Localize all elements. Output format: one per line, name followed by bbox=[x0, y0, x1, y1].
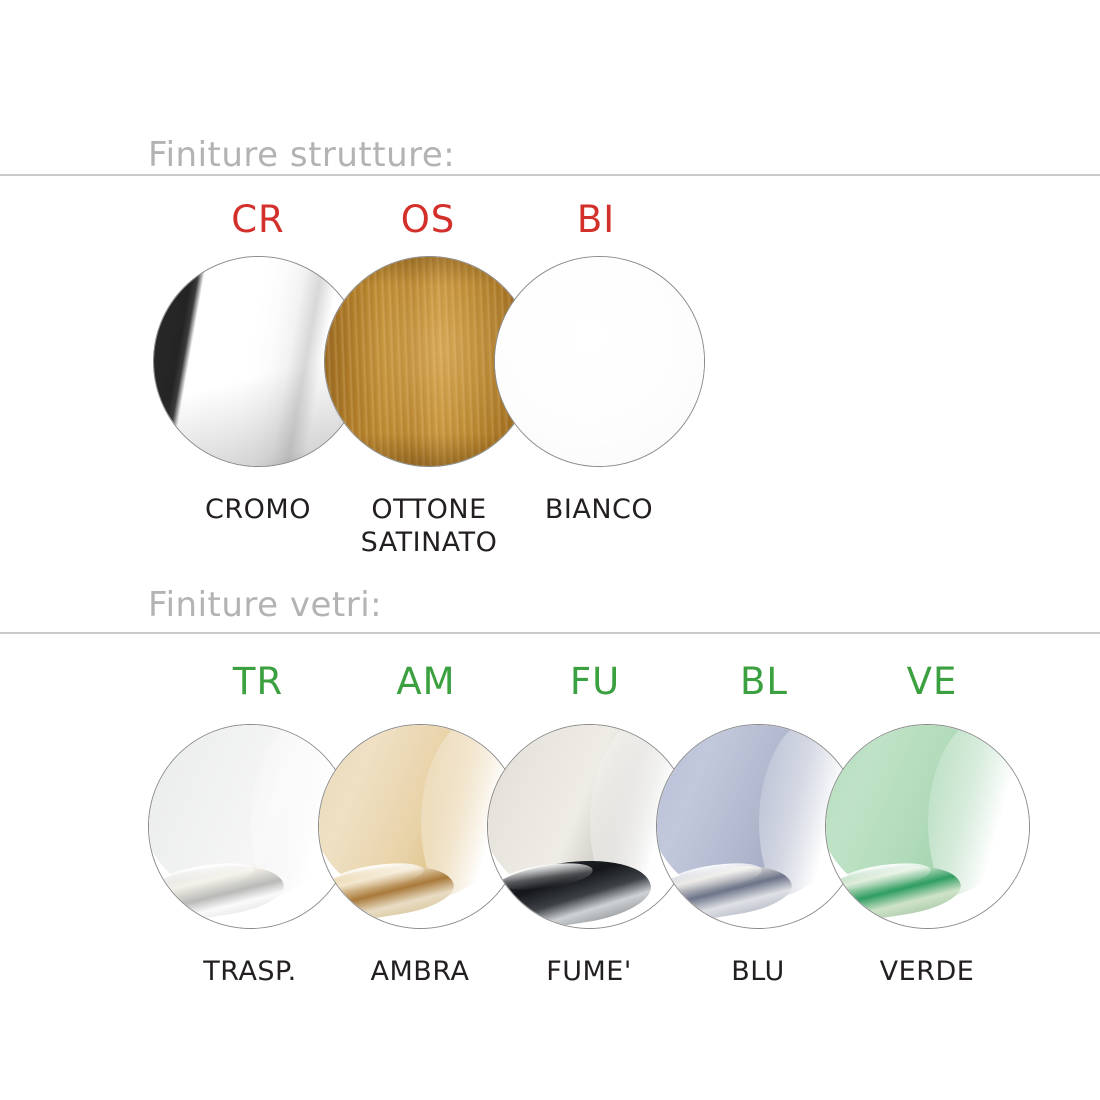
caption-trasp: TRASP. bbox=[170, 955, 330, 988]
caption-cromo: CROMO bbox=[178, 493, 338, 526]
glass-code-ve[interactable]: VE bbox=[872, 660, 992, 703]
caption-bianco: BIANCO bbox=[519, 493, 679, 526]
caption-ottone-satinato: OTTONE SATINATO bbox=[349, 493, 509, 559]
section-heading-vetri: Finiture vetri: bbox=[148, 585, 382, 625]
section-divider-strutture bbox=[0, 174, 1100, 176]
structure-code-cr[interactable]: CR bbox=[198, 198, 318, 241]
swatch-bianco[interactable] bbox=[494, 256, 705, 467]
glass-code-bl[interactable]: BL bbox=[704, 660, 824, 703]
swatch-verde[interactable] bbox=[825, 724, 1030, 929]
section-divider-vetri bbox=[0, 632, 1100, 634]
section-heading-strutture: Finiture strutture: bbox=[148, 135, 455, 175]
caption-verde: VERDE bbox=[847, 955, 1007, 988]
structure-code-bi[interactable]: BI bbox=[536, 198, 656, 241]
caption-fume: FUME' bbox=[509, 955, 669, 988]
swatch-row-strutture bbox=[0, 256, 1100, 471]
swatch-bianco-surface bbox=[494, 256, 705, 467]
glass-code-am[interactable]: AM bbox=[366, 660, 486, 703]
swatch-verde-surface bbox=[825, 724, 1030, 929]
caption-ambra: AMBRA bbox=[340, 955, 500, 988]
swatch-row-vetri bbox=[0, 724, 1100, 939]
structure-code-os[interactable]: OS bbox=[368, 198, 488, 241]
glass-code-tr[interactable]: TR bbox=[198, 660, 318, 703]
glass-code-fu[interactable]: FU bbox=[535, 660, 655, 703]
caption-blu: BLU bbox=[678, 955, 838, 988]
